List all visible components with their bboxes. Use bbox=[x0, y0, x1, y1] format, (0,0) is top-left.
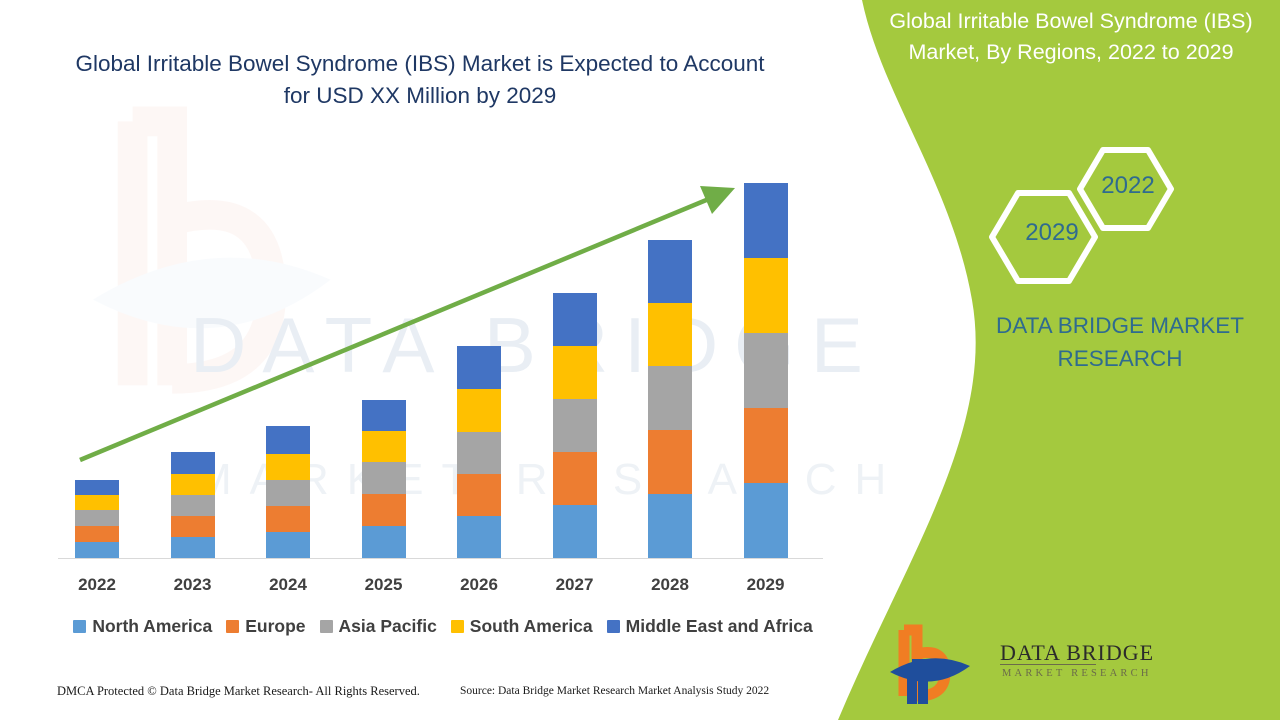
bar-segment-south-america bbox=[648, 303, 692, 366]
bar-segment-europe bbox=[457, 474, 501, 516]
legend-swatch-icon bbox=[451, 620, 464, 633]
panel-title: Global Irritable Bowel Syndrome (IBS) Ma… bbox=[862, 6, 1280, 68]
data-bridge-logo-icon bbox=[886, 624, 996, 704]
bar-segment-middle-east-and-africa bbox=[362, 400, 406, 431]
bar-segment-middle-east-and-africa bbox=[553, 293, 597, 346]
bar-segment-north-america bbox=[744, 483, 788, 558]
infographic-canvas: DATA BRIDGE MARKET RESEARCH Global Irrit… bbox=[0, 0, 1280, 720]
bar-segment-north-america bbox=[362, 526, 406, 558]
bar-segment-asia-pacific bbox=[266, 480, 310, 506]
bar-2024 bbox=[266, 426, 310, 558]
bar-segment-europe bbox=[553, 452, 597, 505]
bar-segment-south-america bbox=[171, 474, 215, 495]
legend-swatch-icon bbox=[607, 620, 620, 633]
legend-swatch-icon bbox=[320, 620, 333, 633]
footer-source: Source: Data Bridge Market Research Mark… bbox=[460, 685, 769, 697]
bar-segment-asia-pacific bbox=[648, 366, 692, 430]
x-axis-line bbox=[58, 558, 823, 559]
bar-segment-middle-east-and-africa bbox=[266, 426, 310, 454]
legend-item-asia-pacific[interactable]: Asia Pacific bbox=[320, 616, 437, 637]
footer-copyright: DMCA Protected © Data Bridge Market Rese… bbox=[57, 684, 420, 699]
bar-segment-europe bbox=[75, 526, 119, 542]
bar-2027 bbox=[553, 293, 597, 558]
logo-text-market-research: MARKET RESEARCH bbox=[1002, 668, 1152, 679]
bar-segment-south-america bbox=[362, 431, 406, 462]
legend-item-south-america[interactable]: South America bbox=[451, 616, 593, 637]
bar-2029 bbox=[744, 183, 788, 558]
bar-segment-europe bbox=[744, 408, 788, 483]
bar-segment-south-america bbox=[266, 454, 310, 480]
bar-segment-middle-east-and-africa bbox=[457, 346, 501, 389]
hex-label-2029: 2029 bbox=[1014, 219, 1090, 247]
bar-segment-middle-east-and-africa bbox=[75, 480, 119, 495]
bar-2023 bbox=[171, 452, 215, 558]
growth-arrow-icon bbox=[0, 0, 850, 720]
bar-segment-asia-pacific bbox=[362, 462, 406, 494]
bar-2022 bbox=[75, 480, 119, 558]
legend-item-north-america[interactable]: North America bbox=[73, 616, 212, 637]
x-label-2026: 2026 bbox=[439, 575, 519, 595]
bar-segment-north-america bbox=[171, 537, 215, 558]
hex-label-2022: 2022 bbox=[1090, 172, 1166, 200]
brand-name: DATA BRIDGE MARKET RESEARCH bbox=[960, 310, 1280, 375]
legend-swatch-icon bbox=[73, 620, 86, 633]
x-label-2029: 2029 bbox=[726, 575, 806, 595]
bar-2025 bbox=[362, 400, 406, 558]
logo-divider bbox=[1000, 664, 1096, 665]
x-label-2022: 2022 bbox=[57, 575, 137, 595]
bar-segment-north-america bbox=[553, 505, 597, 558]
bar-segment-asia-pacific bbox=[553, 399, 597, 452]
bar-segment-south-america bbox=[457, 389, 501, 432]
legend-label: Asia Pacific bbox=[339, 616, 437, 637]
bar-2028 bbox=[648, 240, 692, 558]
bar-segment-europe bbox=[362, 494, 406, 526]
bar-segment-europe bbox=[648, 430, 692, 494]
bar-segment-south-america bbox=[75, 495, 119, 510]
bar-segment-asia-pacific bbox=[457, 432, 501, 474]
bar-segment-asia-pacific bbox=[75, 510, 119, 526]
bar-2026 bbox=[457, 346, 501, 558]
bar-segment-europe bbox=[171, 516, 215, 537]
bar-segment-north-america bbox=[75, 542, 119, 558]
bar-segment-asia-pacific bbox=[744, 333, 788, 408]
bar-segment-middle-east-and-africa bbox=[744, 183, 788, 258]
bar-segment-south-america bbox=[553, 346, 597, 399]
x-label-2028: 2028 bbox=[630, 575, 710, 595]
legend-label: Middle East and Africa bbox=[626, 616, 813, 637]
bar-segment-asia-pacific bbox=[171, 495, 215, 516]
legend-item-europe[interactable]: Europe bbox=[226, 616, 305, 637]
x-label-2023: 2023 bbox=[153, 575, 233, 595]
hexagon-pair bbox=[985, 145, 1185, 290]
legend-swatch-icon bbox=[226, 620, 239, 633]
x-label-2027: 2027 bbox=[535, 575, 615, 595]
x-label-2024: 2024 bbox=[248, 575, 328, 595]
logo-text-data-bridge: DATA BRIDGE bbox=[1000, 640, 1154, 666]
bar-segment-north-america bbox=[266, 532, 310, 558]
bar-segment-north-america bbox=[457, 516, 501, 558]
chart-legend: North AmericaEuropeAsia PacificSouth Ame… bbox=[58, 616, 828, 637]
bar-segment-middle-east-and-africa bbox=[648, 240, 692, 303]
bar-segment-south-america bbox=[744, 258, 788, 333]
legend-label: South America bbox=[470, 616, 593, 637]
chart-plot-area: 20222023202420252026202720282029 bbox=[0, 0, 850, 720]
bar-segment-north-america bbox=[648, 494, 692, 558]
x-label-2025: 2025 bbox=[344, 575, 424, 595]
legend-label: North America bbox=[92, 616, 212, 637]
legend-label: Europe bbox=[245, 616, 305, 637]
legend-item-middle-east-and-africa[interactable]: Middle East and Africa bbox=[607, 616, 813, 637]
bar-segment-middle-east-and-africa bbox=[171, 452, 215, 474]
bar-segment-europe bbox=[266, 506, 310, 532]
